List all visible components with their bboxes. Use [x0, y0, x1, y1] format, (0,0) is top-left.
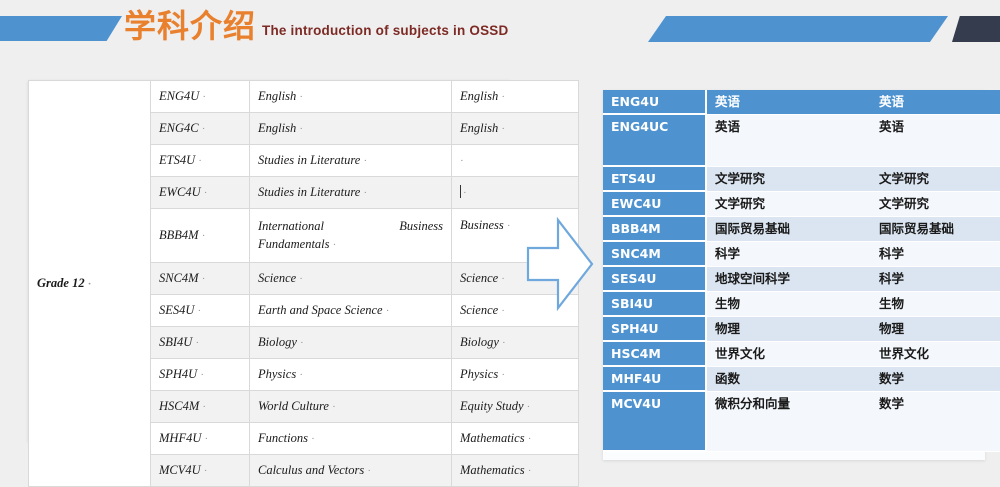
course-category-cell: English ·	[452, 81, 579, 113]
table-row: ENG4U 英语 英语	[603, 90, 1000, 114]
header-accent-bar-dark	[952, 16, 1000, 42]
course-code-cell: HSC4M	[603, 341, 706, 366]
course-code-cell: SPH4U	[603, 316, 706, 341]
course-code-cell: EWC4U	[603, 191, 706, 216]
header-accent-bar-left	[0, 16, 122, 41]
course-code-cell: BBB4M	[603, 216, 706, 241]
course-category-cell: Mathematics ·	[452, 455, 579, 487]
course-name-cell: 函数	[706, 366, 871, 391]
course-name-cell: Studies in Literature ·	[250, 145, 452, 177]
course-category-cell: 世界文化	[871, 341, 1000, 366]
course-name-cell: 世界文化	[706, 341, 871, 366]
course-name-cell: 文学研究	[706, 166, 871, 191]
course-name-cell: English ·	[250, 113, 452, 145]
course-category-cell: 文学研究	[871, 191, 1000, 216]
course-code-cell: ETS4U	[603, 166, 706, 191]
course-code-cell: MCV4U ·	[151, 455, 250, 487]
course-code-cell: SES4U ·	[151, 295, 250, 327]
course-name-cell: International BusinessFundamentals ·	[250, 209, 452, 263]
page-title-cn: 学科介绍	[124, 6, 256, 46]
course-code-cell: ENG4U ·	[151, 81, 250, 113]
table-row: ETS4U 文学研究 文学研究	[603, 166, 1000, 191]
course-code-cell: MCV4U	[603, 391, 706, 451]
course-name-cell: 英语	[706, 114, 871, 166]
course-category-cell: 数学	[871, 366, 1000, 391]
course-category-cell: ·	[452, 145, 579, 177]
course-code-cell: HSC4M ·	[151, 391, 250, 423]
course-code-cell: MHF4U	[603, 366, 706, 391]
english-course-table: Grade 12 · ENG4U · English · English · E…	[28, 80, 579, 487]
course-name-cell: Physics ·	[250, 359, 452, 391]
course-name-cell: World Culture ·	[250, 391, 452, 423]
course-name-cell: 微积分和向量	[706, 391, 871, 451]
course-code-cell: SNC4M ·	[151, 263, 250, 295]
header-accent-bar-right	[648, 16, 948, 42]
table-row: EWC4U 文学研究 文学研究	[603, 191, 1000, 216]
chinese-course-table: ENG4U 英语 英语 ENG4UC 英语 英语 ETS4U 文学研究 文学研究…	[603, 90, 1000, 452]
table-row: SNC4M 科学 科学	[603, 241, 1000, 266]
course-category-cell: Equity Study ·	[452, 391, 579, 423]
course-name-cell: 科学	[706, 241, 871, 266]
grade-label-cell: Grade 12 ·	[29, 81, 151, 487]
page-header: 学科介绍 The introduction of subjects in OSS…	[0, 0, 1000, 66]
course-name-cell: Earth and Space Science ·	[250, 295, 452, 327]
course-code-cell: EWC4U ·	[151, 177, 250, 209]
course-code-cell: SNC4M	[603, 241, 706, 266]
course-category-cell: English ·	[452, 113, 579, 145]
course-name-cell: Science ·	[250, 263, 452, 295]
course-category-cell: 国际贸易基础	[871, 216, 1000, 241]
table-row: SES4U 地球空间科学 科学	[603, 266, 1000, 291]
table-row: SBI4U 生物 生物	[603, 291, 1000, 316]
course-name-cell: Calculus and Vectors ·	[250, 455, 452, 487]
course-name-cell: English ·	[250, 81, 452, 113]
table-row: MCV4U 微积分和向量 数学	[603, 391, 1000, 451]
course-code-cell: ETS4U ·	[151, 145, 250, 177]
course-category-cell: 生物	[871, 291, 1000, 316]
course-code-cell: BBB4M ·	[151, 209, 250, 263]
table-row: ENG4UC 英语 英语	[603, 114, 1000, 166]
course-code-cell: ENG4UC	[603, 114, 706, 166]
course-category-cell: 英语	[871, 90, 1000, 114]
course-code-cell: SBI4U	[603, 291, 706, 316]
course-category-cell: 文学研究	[871, 166, 1000, 191]
course-name-cell: 国际贸易基础	[706, 216, 871, 241]
course-category-cell: 科学	[871, 266, 1000, 291]
table-row: Grade 12 · ENG4U · English · English ·	[29, 81, 579, 113]
source-document-table: Grade 12 · ENG4U · English · English · E…	[28, 80, 510, 442]
course-code-cell: MHF4U ·	[151, 423, 250, 455]
course-category-cell: Physics ·	[452, 359, 579, 391]
table-row: MHF4U 函数 数学	[603, 366, 1000, 391]
course-code-cell: SBI4U ·	[151, 327, 250, 359]
course-category-cell-with-cursor[interactable]: ·	[452, 177, 579, 209]
course-category-cell: Mathematics ·	[452, 423, 579, 455]
course-code-cell: ENG4C ·	[151, 113, 250, 145]
course-category-cell: Biology ·	[452, 327, 579, 359]
course-category-cell: 英语	[871, 114, 1000, 166]
course-category-cell: 科学	[871, 241, 1000, 266]
course-name-cell: 英语	[706, 90, 871, 114]
translated-course-table: ENG4U 英语 英语 ENG4UC 英语 英语 ETS4U 文学研究 文学研究…	[603, 90, 985, 460]
course-category-cell: 物理	[871, 316, 1000, 341]
course-name-cell: 文学研究	[706, 191, 871, 216]
right-arrow-icon	[524, 216, 596, 312]
table-row: SPH4U 物理 物理	[603, 316, 1000, 341]
course-name-cell: 地球空间科学	[706, 266, 871, 291]
course-name-cell: Functions ·	[250, 423, 452, 455]
course-name-cell: Studies in Literature ·	[250, 177, 452, 209]
course-category-cell: 数学	[871, 391, 1000, 451]
text-cursor	[460, 185, 461, 198]
course-name-cell: Biology ·	[250, 327, 452, 359]
course-name-cell: 物理	[706, 316, 871, 341]
page-subtitle-en: The introduction of subjects in OSSD	[262, 22, 508, 40]
table-row: HSC4M 世界文化 世界文化	[603, 341, 1000, 366]
course-code-cell: SPH4U ·	[151, 359, 250, 391]
table-row: BBB4M 国际贸易基础 国际贸易基础	[603, 216, 1000, 241]
course-name-cell: 生物	[706, 291, 871, 316]
course-code-cell: ENG4U	[603, 90, 706, 114]
course-code-cell: SES4U	[603, 266, 706, 291]
